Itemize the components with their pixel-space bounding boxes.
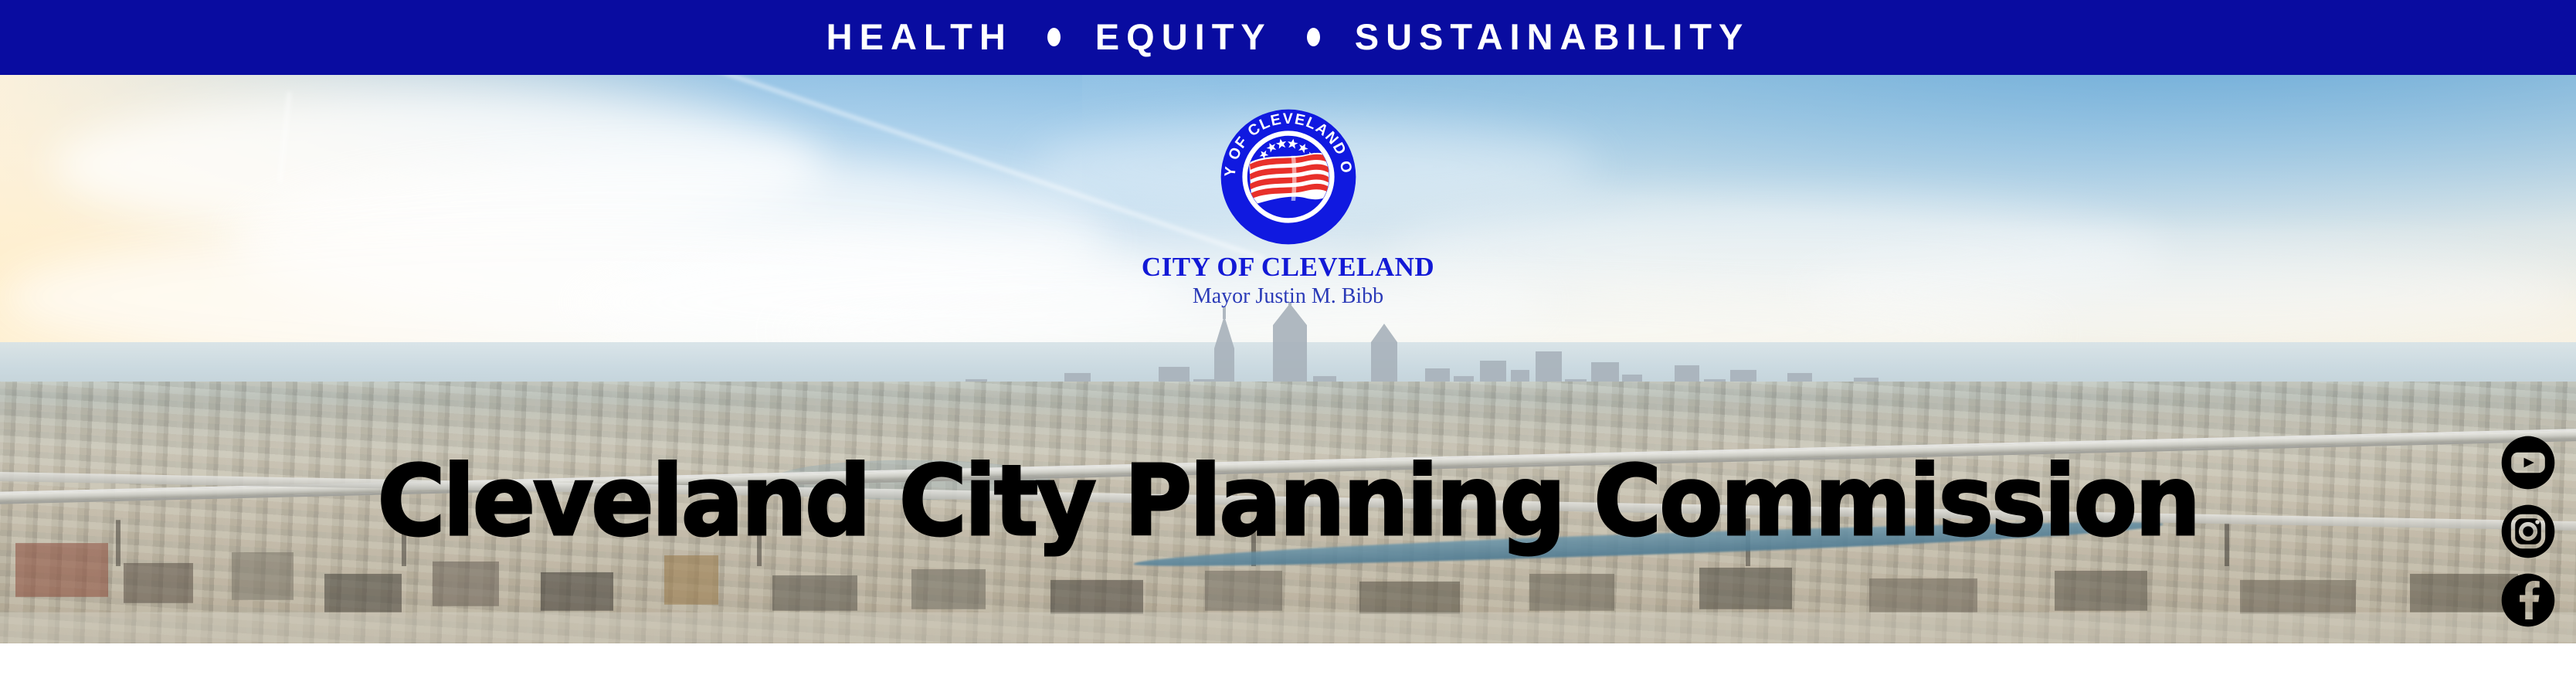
youtube-icon[interactable] <box>2498 433 2558 493</box>
bullet-dot-icon <box>1307 28 1320 46</box>
logo-title: CITY OF CLEVELAND <box>0 253 2576 282</box>
banner-word-health: HEALTH <box>826 19 1013 55</box>
banner-word-sustainability: SUSTAINABILITY <box>1355 19 1750 55</box>
page-root: HEALTH EQUITY SUSTAINABILITY <box>0 0 2576 682</box>
instagram-glyph <box>2498 501 2558 562</box>
bottom-white-strip <box>0 643 2576 682</box>
logo-subtitle: Mayor Justin M. Bibb <box>0 285 2576 309</box>
youtube-glyph <box>2498 433 2558 493</box>
banner-word-equity: EQUITY <box>1095 19 1272 55</box>
page-title: Cleveland City Planning Commission <box>64 453 2511 550</box>
city-logo-block: CITY OF CLEVELAND OHIO <box>0 107 2576 309</box>
facebook-glyph <box>2498 570 2558 630</box>
bullet-dot-icon <box>1047 28 1061 46</box>
banner-inner: HEALTH EQUITY SUSTAINABILITY <box>826 19 1750 55</box>
instagram-icon[interactable] <box>2498 501 2558 562</box>
social-media-rail <box>2498 433 2558 630</box>
seal-graphic: CITY OF CLEVELAND OHIO <box>1218 107 1359 247</box>
facebook-icon[interactable] <box>2498 570 2558 630</box>
top-banner: HEALTH EQUITY SUSTAINABILITY <box>0 0 2576 75</box>
city-of-cleveland-seal-icon: CITY OF CLEVELAND OHIO <box>1218 107 1359 247</box>
